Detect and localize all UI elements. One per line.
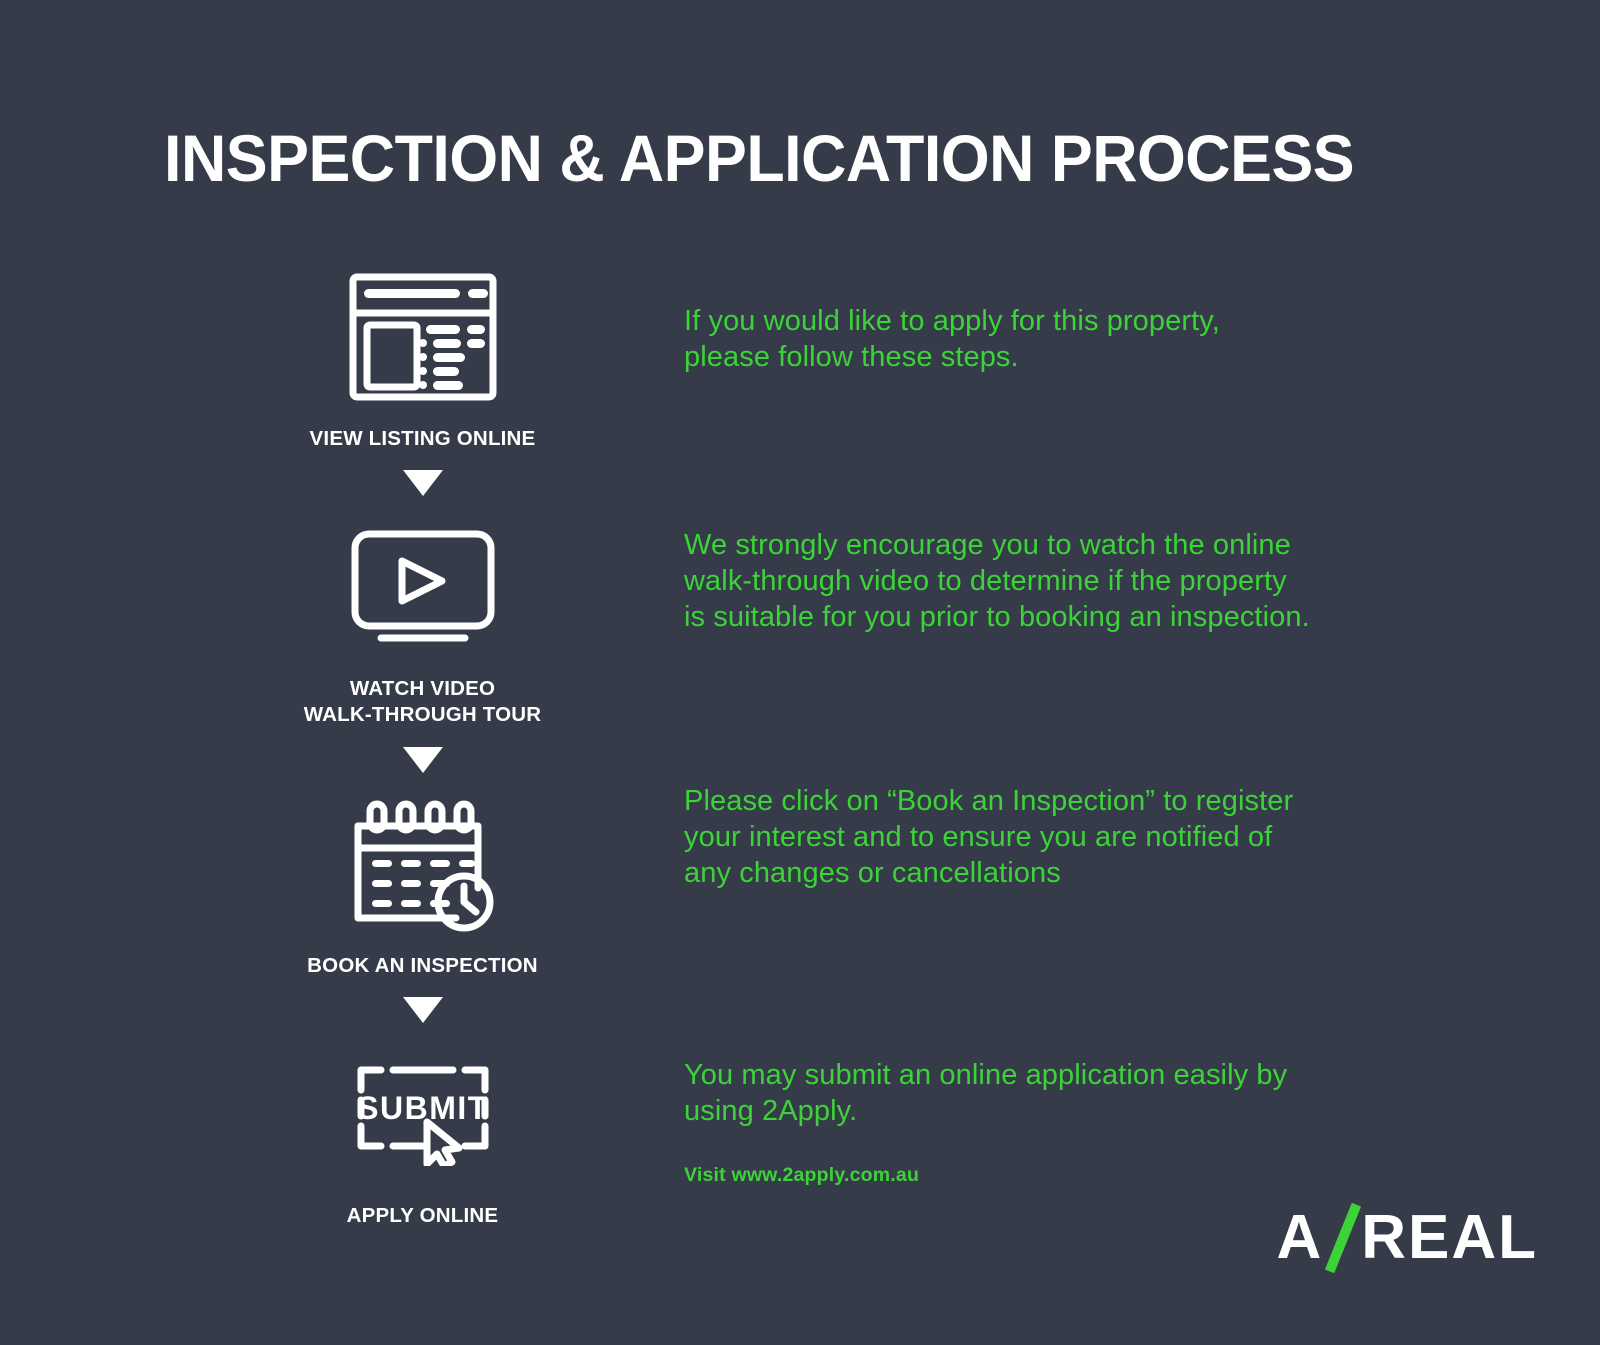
steps-column: VIEW LISTING ONLINE WATCH VIDEO WALK-THR… — [280, 262, 565, 1229]
submit-button-cursor-icon: SUBMIT — [347, 1062, 499, 1166]
logo-areal: A REAL — [1276, 1202, 1538, 1273]
step-book-inspection: BOOK AN INSPECTION — [280, 789, 565, 979]
logo-letter-a: A — [1276, 1202, 1323, 1273]
browser-listing-icon-wrap — [347, 262, 499, 412]
logo-slash-icon — [1325, 1207, 1359, 1269]
step-label-book-inspection: BOOK AN INSPECTION — [307, 953, 538, 979]
description-book-inspection: Please click on “Book an Inspection” to … — [684, 784, 1293, 891]
video-play-monitor-icon — [349, 528, 497, 646]
triangle-down-icon-1 — [403, 470, 443, 496]
triangle-down-icon-3 — [403, 997, 443, 1023]
triangle-down-icon-2 — [403, 747, 443, 773]
page-title: INSPECTION & APPLICATION PROCESS — [164, 122, 1354, 195]
calendar-clock-icon-wrap — [348, 789, 498, 939]
description-apply-online: You may submit an online application eas… — [684, 1058, 1287, 1130]
visit-link[interactable]: Visit www.2apply.com.au — [684, 1164, 919, 1187]
description-view-listing: If you would like to apply for this prop… — [684, 304, 1220, 376]
infographic-page: INSPECTION & APPLICATION PROCESS — [0, 0, 1600, 1345]
description-watch-video: We strongly encourage you to watch the o… — [684, 528, 1310, 635]
step-view-listing-online: VIEW LISTING ONLINE — [280, 262, 565, 452]
submit-button-cursor-icon-wrap: SUBMIT — [347, 1039, 499, 1189]
browser-listing-icon — [347, 271, 499, 403]
logo-word: REAL — [1361, 1202, 1538, 1273]
step-watch-video: WATCH VIDEO WALK-THROUGH TOUR — [280, 512, 565, 728]
step-label-apply-online: APPLY ONLINE — [347, 1203, 499, 1229]
step-label-watch-video: WATCH VIDEO WALK-THROUGH TOUR — [304, 676, 542, 728]
submit-icon-text: SUBMIT — [357, 1090, 489, 1126]
step-apply-online: SUBMIT APPLY ONLINE — [280, 1039, 565, 1229]
step-label-view-listing-online: VIEW LISTING ONLINE — [310, 426, 536, 452]
video-play-monitor-icon-wrap — [349, 512, 497, 662]
calendar-clock-icon — [348, 796, 498, 932]
